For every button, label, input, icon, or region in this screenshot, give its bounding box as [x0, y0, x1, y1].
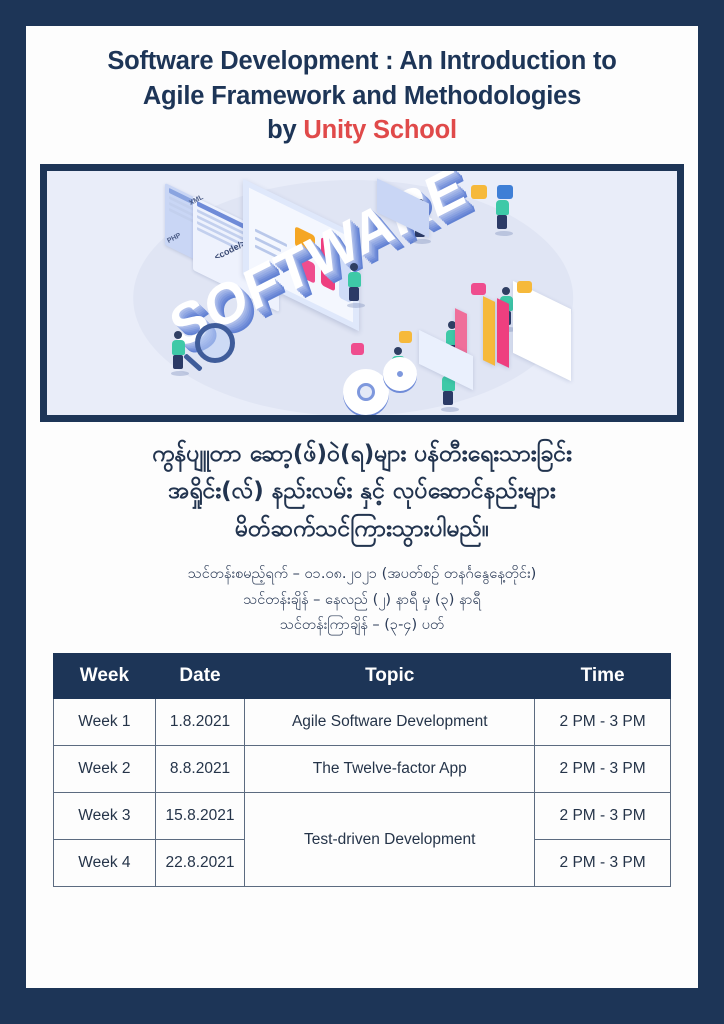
byline: by Unity School	[56, 113, 668, 148]
column-header-topic: Topic	[245, 654, 535, 699]
burmese-headline-line-2: အရှိုင်း(လ်) နည်းလမ်း နှင့် လုပ်ဆောင်နည်…	[52, 473, 672, 510]
course-time: သင်တန်းချိန် – နေလည် (၂) နာရီ မှ (၃) နာရ…	[52, 588, 672, 614]
person-head	[502, 287, 510, 295]
person-body	[348, 272, 361, 287]
person-legs	[443, 391, 453, 405]
schedule-table: Week Date Topic Time Week 1 1.8.2021 Agi…	[53, 653, 671, 887]
person-body	[172, 340, 185, 355]
schedule-table-body: Week 1 1.8.2021 Agile Software Developme…	[54, 699, 671, 887]
person-legs	[173, 355, 183, 369]
cell-week: Week 4	[54, 840, 156, 887]
ui-chip-blue-bubble	[497, 185, 513, 199]
person-legs	[349, 287, 359, 301]
ui-chip-pink-bubble	[471, 283, 486, 295]
person-shadow	[441, 407, 459, 412]
magnifier-icon	[195, 323, 235, 363]
burmese-headline-line-1: ကွန်ပျူတာ ဆော့(ဖ်)ဝဲ(ရ)များ ပန်တီးရေးသား…	[52, 436, 672, 473]
ui-chip-yellow-bubble	[517, 281, 532, 293]
illustration-stage: XML CSS PHP <code/> SOFTWARE	[47, 171, 677, 415]
poster: Software Development : An Introduction t…	[0, 0, 724, 1024]
course-start-date: သင်တန်းစမည့်ရက် – ၀၁.၀၈.၂၀၂၁ (အပတ်စဉ် တန…	[52, 562, 672, 588]
burmese-headline-block: ကွန်ပျူတာ ဆော့(ဖ်)ဝဲ(ရ)များ ပန်တီးရေးသား…	[26, 422, 698, 639]
ui-chip-yellow-small	[399, 331, 412, 343]
schedule-table-head: Week Date Topic Time	[54, 654, 671, 699]
page-title-line-2: Agile Framework and Methodologies	[56, 79, 668, 114]
column-header-week: Week	[54, 654, 156, 699]
table-header-row: Week Date Topic Time	[54, 654, 671, 699]
ui-chip-pink-small	[351, 343, 364, 355]
illustration-frame: XML CSS PHP <code/> SOFTWARE	[40, 164, 684, 422]
cell-date: 15.8.2021	[155, 793, 244, 840]
title-block: Software Development : An Introduction t…	[26, 26, 698, 148]
person-shadow	[495, 231, 513, 236]
schedule-table-wrapper: Week Date Topic Time Week 1 1.8.2021 Agi…	[26, 639, 698, 887]
column-header-date: Date	[155, 654, 244, 699]
app-panel	[455, 308, 467, 354]
cell-topic: The Twelve-factor App	[245, 746, 535, 793]
cell-topic-merged: Test-driven Development	[245, 793, 535, 887]
app-panel	[497, 298, 509, 368]
person-figure	[171, 331, 185, 376]
person-figure	[347, 263, 361, 308]
person-shadow	[413, 239, 431, 244]
person-head	[350, 263, 358, 271]
cell-time: 2 PM - 3 PM	[535, 746, 671, 793]
person-body	[496, 200, 509, 215]
gear-hole	[357, 383, 375, 401]
table-row: Week 1 1.8.2021 Agile Software Developme…	[54, 699, 671, 746]
gear-icon-small	[383, 357, 417, 391]
person-legs	[497, 215, 507, 229]
cell-date: 1.8.2021	[155, 699, 244, 746]
cell-week: Week 2	[54, 746, 156, 793]
cell-time: 2 PM - 3 PM	[535, 699, 671, 746]
cell-topic: Agile Software Development	[245, 699, 535, 746]
person-head	[174, 331, 182, 339]
cell-date: 22.8.2021	[155, 840, 244, 887]
byline-prefix: by	[267, 116, 303, 144]
person-shadow	[171, 371, 189, 376]
cell-week: Week 3	[54, 793, 156, 840]
burmese-details-block: သင်တန်းစမည့်ရက် – ၀၁.၀၈.၂၀၂၁ (အပတ်စဉ် တန…	[52, 562, 672, 639]
gear-icon-large	[343, 369, 389, 415]
cell-time: 2 PM - 3 PM	[535, 793, 671, 840]
table-row: Week 2 8.8.2021 The Twelve-factor App 2 …	[54, 746, 671, 793]
gear-hole	[397, 371, 403, 377]
person-head	[394, 347, 402, 355]
brand-name: Unity School	[303, 116, 456, 144]
poster-inner-panel: Software Development : An Introduction t…	[26, 26, 698, 988]
table-row: Week 3 15.8.2021 Test-driven Development…	[54, 793, 671, 840]
ui-chip-yellow	[471, 185, 487, 199]
page-title-line-1: Software Development : An Introduction t…	[56, 44, 668, 79]
burmese-headline-line-3: မိတ်ဆက်သင်ကြားသွားပါမည်။	[52, 511, 672, 548]
course-duration: သင်တန်းကြာချိန် – (၃-၄) ပတ်	[52, 613, 672, 639]
person-shadow	[347, 303, 365, 308]
cell-time: 2 PM - 3 PM	[535, 840, 671, 887]
cell-week: Week 1	[54, 699, 156, 746]
app-panel	[483, 296, 495, 366]
column-header-time: Time	[535, 654, 671, 699]
cell-date: 8.8.2021	[155, 746, 244, 793]
